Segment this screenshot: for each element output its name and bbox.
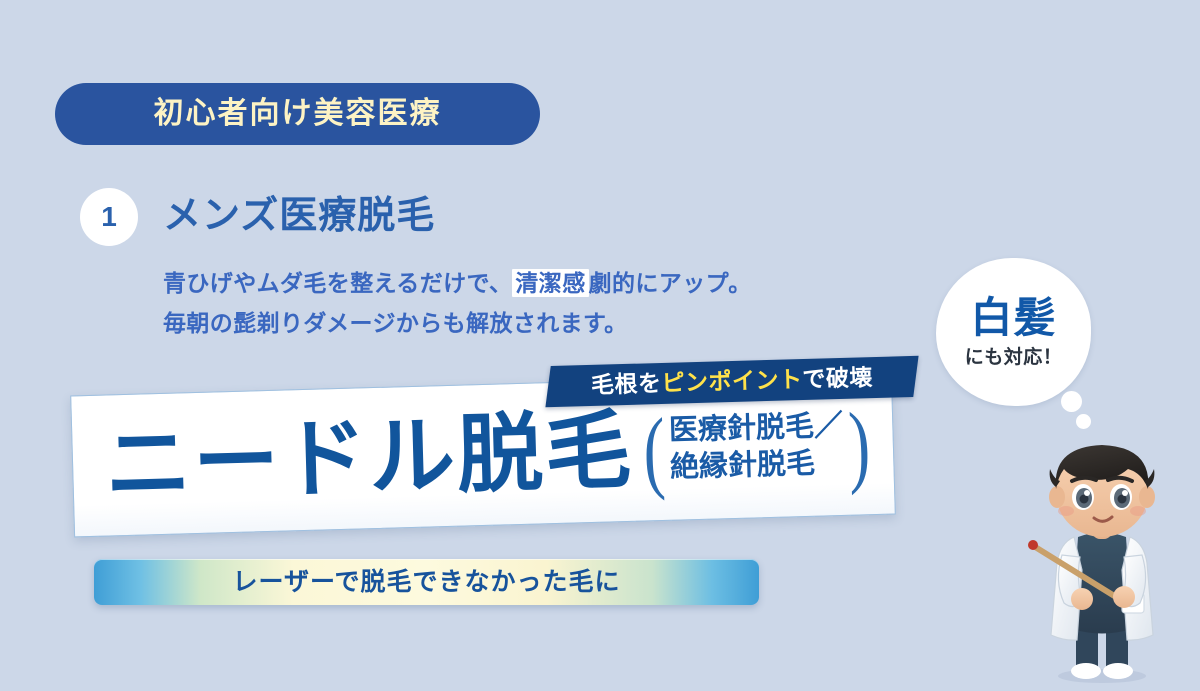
section-number: 1 [101,203,117,231]
body-line-1: 青ひげやムダ毛を整えるだけで、清潔感劇的にアップ。 [163,267,752,299]
paren-open-mark: ( [642,404,666,497]
card-subtitle-stack: 医療針脱毛／ 絶縁針脱毛 [669,409,845,487]
advertisement-canvas: 初心者向け美容医療 1 メンズ医療脱毛 青ひげやムダ毛を整えるだけで、清潔感劇的… [0,0,1200,686]
bottom-banner: レーザーで脱毛できなかった毛に [94,559,759,605]
body-line-1-after: 劇的にアップ。 [589,270,752,296]
ribbon-label-after: で破壊 [802,366,873,391]
thought-bubble: 白髪 にも対応！ [936,258,1091,406]
thought-bubble-dot-large [1061,391,1082,412]
body-line-1-highlight: 清潔感 [512,269,588,297]
bottom-banner-label: レーザーで脱毛できなかった毛に [232,570,620,595]
body-line-1-before: 青ひげやムダ毛を整えるだけで、 [163,270,512,296]
section-number-circle: 1 [80,188,138,246]
category-badge: 初心者向け美容医療 [55,83,540,145]
ribbon-label-accent: ピンポイント [661,368,803,395]
ribbon-label-before: 毛根を [591,372,662,397]
card-subtitle-line-1: 医療針脱毛／ [669,409,844,449]
doctor-mascot-icon [1004,425,1200,686]
section-heading: メンズ医療脱毛 [163,190,435,243]
body-line-2: 毎朝の髭剃りダメージからも解放されます。 [163,307,628,339]
thought-bubble-sub: にも対応！ [965,348,1063,367]
card-title: ニードル脱毛 [104,408,634,509]
thought-bubble-main: 白髪 [970,297,1056,339]
paren-close-mark: ) [847,398,871,491]
card-subtitle-line-2: 絶縁針脱毛 [670,446,845,486]
card-subtitle-group: ( 医療針脱毛／ 絶縁針脱毛 ) [638,398,876,497]
doctor-mascot-illustration [1004,425,1200,686]
category-badge-label: 初心者向け美容医療 [154,99,442,129]
